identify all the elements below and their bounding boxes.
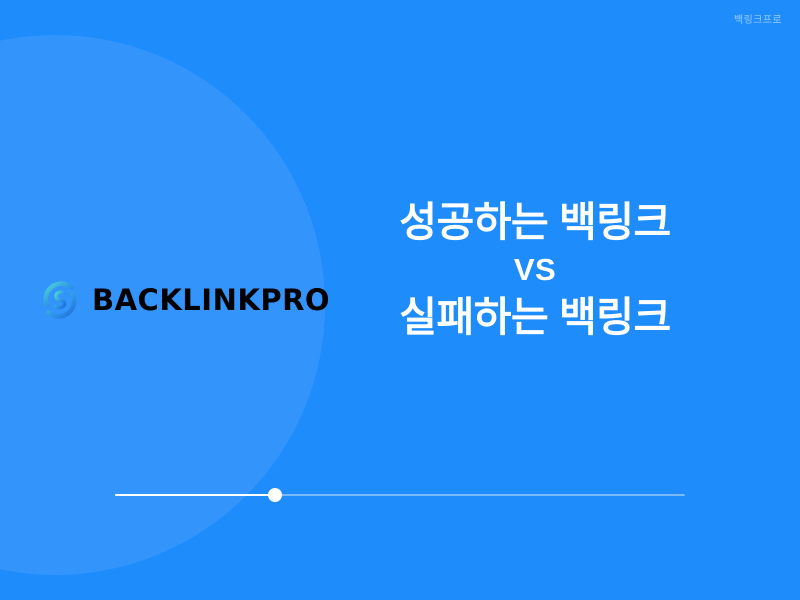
slide-canvas: 백링크프로 BACKLINKPRO 성공하는 백링크 VS 실패하는 백링 xyxy=(0,0,800,600)
logo-wordmark: BACKLINKPRO xyxy=(92,286,330,315)
headline-line-2: 실패하는 백링크 xyxy=(350,293,720,341)
circular-swirl-s-icon xyxy=(38,278,82,322)
headline-versus-divider: VS xyxy=(350,246,720,292)
headline-block: 성공하는 백링크 VS 실패하는 백링크 xyxy=(350,198,720,341)
progress-slider[interactable] xyxy=(115,488,685,502)
progress-handle[interactable] xyxy=(268,488,282,502)
logo-lockup: BACKLINKPRO xyxy=(38,278,330,322)
progress-fill xyxy=(115,494,275,496)
brand-watermark: 백링크프로 xyxy=(734,16,782,26)
headline-line-1: 성공하는 백링크 xyxy=(350,198,720,246)
